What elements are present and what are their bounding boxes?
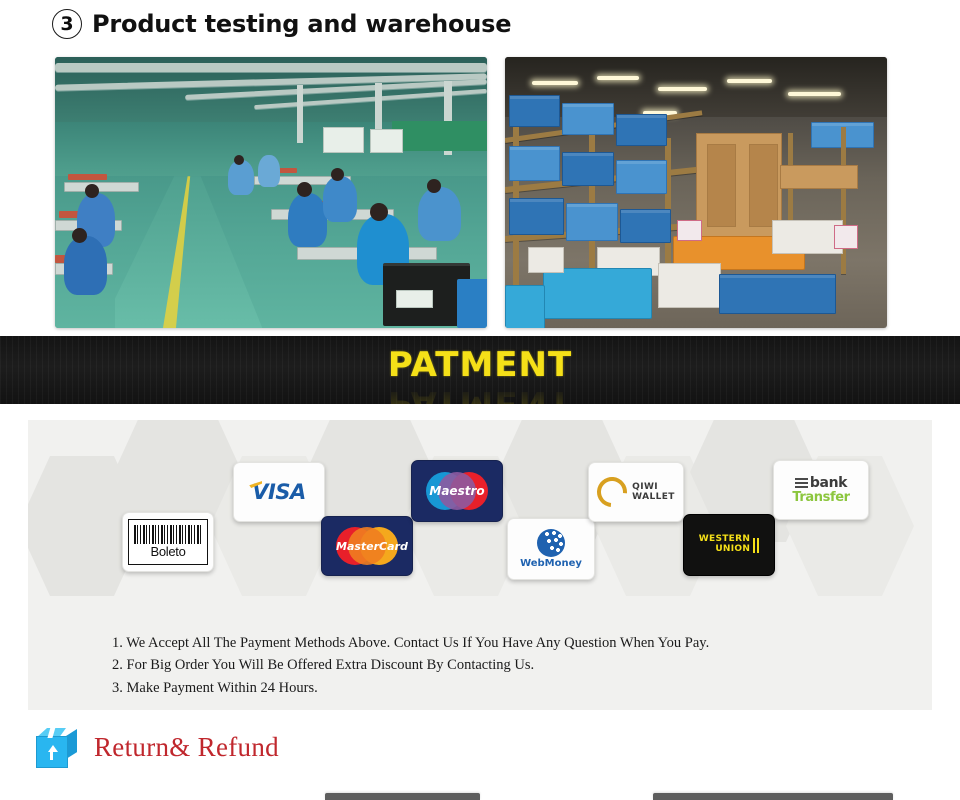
mastercard-label: MasterCard bbox=[336, 540, 398, 553]
payment-logo-boleto[interactable]: Boleto bbox=[122, 512, 214, 572]
payment-logo-bank-transfer[interactable]: bank Transfer bbox=[773, 460, 869, 520]
visa-logo: VISA bbox=[252, 480, 305, 504]
qiwi-label: QIWI WALLET bbox=[632, 482, 675, 503]
section-heading: 3 Product testing and warehouse bbox=[0, 0, 960, 48]
partial-table-header-left bbox=[325, 793, 480, 800]
qiwi-q-icon bbox=[591, 471, 633, 513]
payment-term-1: 1. We Accept All The Payment Methods Abo… bbox=[112, 632, 872, 654]
payment-logo-mastercard[interactable]: MasterCard bbox=[321, 516, 413, 576]
transfer-label: Transfer bbox=[792, 491, 849, 504]
box-with-up-arrow-icon bbox=[32, 725, 78, 769]
payment-term-2: 2. For Big Order You Will Be Offered Ext… bbox=[112, 654, 872, 676]
bank-transfer-logo: bank Transfer bbox=[792, 476, 849, 504]
mastercard-logo: MasterCard bbox=[336, 527, 398, 565]
barcode-icon bbox=[134, 525, 202, 544]
production-line-photo bbox=[55, 57, 487, 328]
boleto-logo: Boleto bbox=[128, 519, 208, 565]
western-union-label: WESTERN UNION bbox=[699, 535, 750, 555]
payment-logo-maestro[interactable]: Maestro bbox=[411, 460, 503, 522]
wu-line-2: UNION bbox=[699, 545, 750, 555]
webmoney-logo: WebMoney bbox=[520, 529, 582, 569]
payment-logo-webmoney[interactable]: WebMoney bbox=[507, 518, 595, 580]
payment-logo-western-union[interactable]: WESTERN UNION bbox=[683, 514, 775, 576]
qiwi-logo: QIWI WALLET bbox=[597, 477, 675, 507]
payment-banner-title: PATMENT bbox=[0, 348, 960, 382]
maestro-logo: Maestro bbox=[426, 472, 488, 510]
step-number-badge: 3 bbox=[52, 9, 82, 39]
payment-banner-reflection: PATMENT bbox=[0, 386, 960, 404]
payment-logo-qiwi-wallet[interactable]: QIWI WALLET bbox=[588, 462, 684, 522]
payment-banner: PATMENT PATMENT bbox=[0, 336, 960, 404]
webmoney-label: WebMoney bbox=[520, 558, 582, 569]
western-union-bars-icon bbox=[753, 538, 759, 553]
return-refund-title: Return& Refund bbox=[94, 732, 279, 763]
payment-terms-list: 1. We Accept All The Payment Methods Abo… bbox=[112, 632, 872, 699]
qiwi-line-2: WALLET bbox=[632, 492, 675, 502]
maestro-label: Maestro bbox=[426, 484, 488, 498]
webmoney-globe-icon bbox=[537, 529, 565, 557]
return-refund-section: Return& Refund bbox=[0, 714, 960, 780]
page-title: Product testing and warehouse bbox=[92, 10, 511, 38]
speed-lines-icon bbox=[795, 478, 808, 488]
photo-row bbox=[0, 52, 960, 330]
bank-label: bank bbox=[810, 476, 847, 490]
western-union-logo: WESTERN UNION bbox=[699, 535, 759, 555]
payment-logo-visa[interactable]: VISA bbox=[233, 462, 325, 522]
qiwi-line-1: QIWI bbox=[632, 482, 675, 492]
boleto-label: Boleto bbox=[150, 545, 185, 559]
payment-term-3: 3. Make Payment Within 24 Hours. bbox=[112, 677, 872, 699]
warehouse-photo bbox=[505, 57, 887, 328]
partial-table-header-right bbox=[653, 793, 893, 800]
